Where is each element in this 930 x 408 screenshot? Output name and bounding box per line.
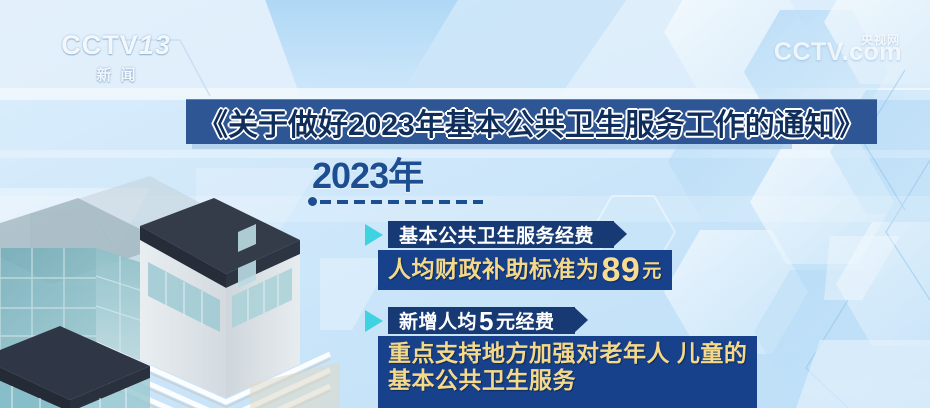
item-2-caption-bar: 新增人均5元经费 (388, 307, 575, 334)
cctv-com-cn: 央视网 (861, 31, 900, 48)
cctv-wordmark: CCTV (61, 30, 139, 60)
broadcast-graphic: CCTV13 新闻 CCTV.com 央视网 《关于做好2023年基本公共卫生服… (0, 0, 930, 408)
item-1-body-unit: 元 (642, 261, 662, 282)
item-2-caption-number: 5 (477, 306, 496, 336)
item-1-body-prefix: 人均财政补助标准为 (388, 256, 600, 282)
item-2-body-bar: 重点支持地方加强对老年人 儿童的 基本公共卫生服务 (378, 336, 757, 408)
cctv-com-watermark: CCTV.com 央视网 (774, 38, 902, 67)
arrow-marker-icon-1 (365, 224, 383, 246)
year-label: 2023年 (312, 158, 423, 194)
item-1-caption-bar: 基本公共卫生服务经费 (388, 221, 614, 248)
year-text: 2023年 (312, 158, 423, 194)
year-underline (308, 198, 483, 205)
item-1-caption-text: 基本公共卫生服务经费 (399, 221, 594, 248)
item-2-body-text: 重点支持地方加强对老年人 儿童的 基本公共卫生服务 (388, 340, 747, 394)
item-1-body-bar: 人均财政补助标准为89元 (378, 250, 672, 290)
cctv13-logo-sub: 新闻 (46, 64, 186, 85)
item-2-body-line1: 重点支持地方加强对老年人 儿童的 (388, 340, 747, 367)
year-dashed-line (320, 200, 483, 204)
item-1-body-text: 人均财政补助标准为89元 (388, 253, 662, 287)
item-1-body-number: 89 (600, 251, 643, 289)
cctv13-logo: CCTV13 新闻 (46, 30, 186, 85)
year-bullet-dot (308, 197, 317, 206)
headline-text: 《关于做好2023年基本公共卫生服务工作的通知》 (198, 100, 865, 144)
item-2-caption-prefix: 新增人均 (399, 312, 477, 333)
item-2-body-line2: 基本公共卫生服务 (388, 367, 747, 394)
headline-bar: 《关于做好2023年基本公共卫生服务工作的通知》 (186, 99, 877, 144)
arrow-marker-icon-2 (365, 310, 383, 332)
item-2-caption-text: 新增人均5元经费 (399, 307, 555, 334)
item-2-caption-suffix: 元经费 (496, 312, 555, 333)
cctv13-logo-main: CCTV13 (46, 30, 186, 61)
channel-number: 13 (139, 30, 171, 60)
